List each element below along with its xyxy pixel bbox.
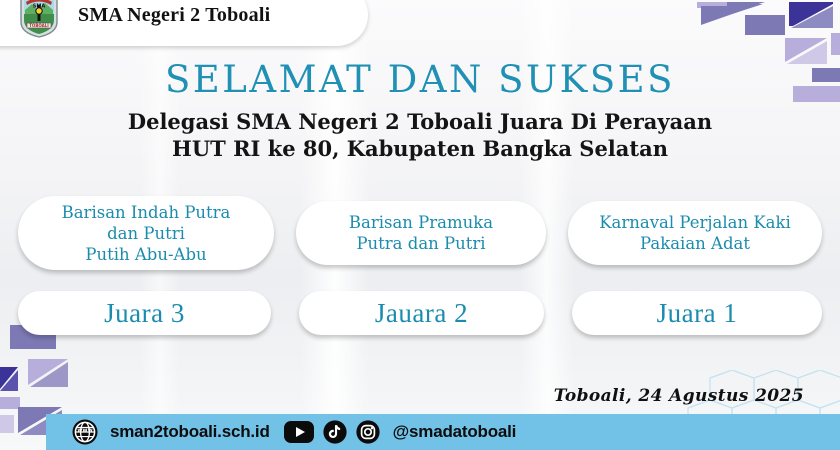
footer-contact-bar: www sman2toboali.sch.id — [46, 414, 840, 450]
award-pill-juara-1: Juara 1 — [572, 291, 822, 335]
youtube-icon[interactable] — [284, 421, 314, 443]
date-line: Toboali, 24 Agustus 2025 — [554, 386, 804, 406]
category-pill-barisan-pramuka: Barisan Pramuka Putra dan Putri — [296, 201, 546, 265]
social-handle-label[interactable]: @smadatoboali — [393, 422, 517, 442]
subtitle-line-2: HUT RI ke 80, Kabupaten Bangka Selatan — [0, 135, 840, 162]
school-crest-icon: SMA TOBOALI — [18, 0, 60, 38]
school-name-label: SMA Negeri 2 Toboali — [78, 4, 270, 27]
svg-text:www: www — [77, 427, 93, 433]
school-header-pill: SMA TOBOALI SMA Negeri 2 Toboali — [0, 0, 368, 46]
instagram-icon[interactable] — [356, 420, 380, 444]
category-pill-barisan-indah: Barisan Indah Putra dan Putri Putih Abu-… — [18, 196, 274, 270]
award-pill-juara-2: Jauara 2 — [299, 291, 544, 335]
category-line: Putra dan Putri — [349, 233, 493, 254]
category-line: Pakaian Adat — [599, 233, 791, 254]
svg-text:TOBOALI: TOBOALI — [29, 23, 49, 28]
award-pill-juara-3: Juara 3 — [18, 291, 271, 335]
category-pill-row: Barisan Indah Putra dan Putri Putih Abu-… — [18, 196, 822, 270]
category-line: Barisan Pramuka — [349, 212, 493, 233]
category-line: dan Putri — [62, 223, 231, 244]
category-line: Karnaval Perjalan Kaki — [599, 212, 791, 233]
category-pill-karnaval-pakaian-adat: Karnaval Perjalan Kaki Pakaian Adat — [568, 201, 822, 265]
svg-text:SMA: SMA — [33, 4, 46, 10]
award-pill-row: Juara 3 Jauara 2 Juara 1 — [18, 290, 822, 336]
www-globe-icon: www — [72, 419, 98, 445]
tiktok-icon[interactable] — [323, 420, 347, 444]
congratulations-banner: SMA TOBOALI SMA Negeri 2 Toboali SELAMAT… — [0, 0, 840, 450]
page-subtitle: Delegasi SMA Negeri 2 Toboali Juara Di P… — [0, 108, 840, 162]
category-line: Barisan Indah Putra — [62, 202, 231, 223]
subtitle-line-1: Delegasi SMA Negeri 2 Toboali Juara Di P… — [0, 108, 840, 135]
page-title: SELAMAT DAN SUKSES — [0, 58, 840, 101]
category-line: Putih Abu-Abu — [62, 244, 231, 265]
website-label[interactable]: sman2toboali.sch.id — [110, 422, 270, 442]
